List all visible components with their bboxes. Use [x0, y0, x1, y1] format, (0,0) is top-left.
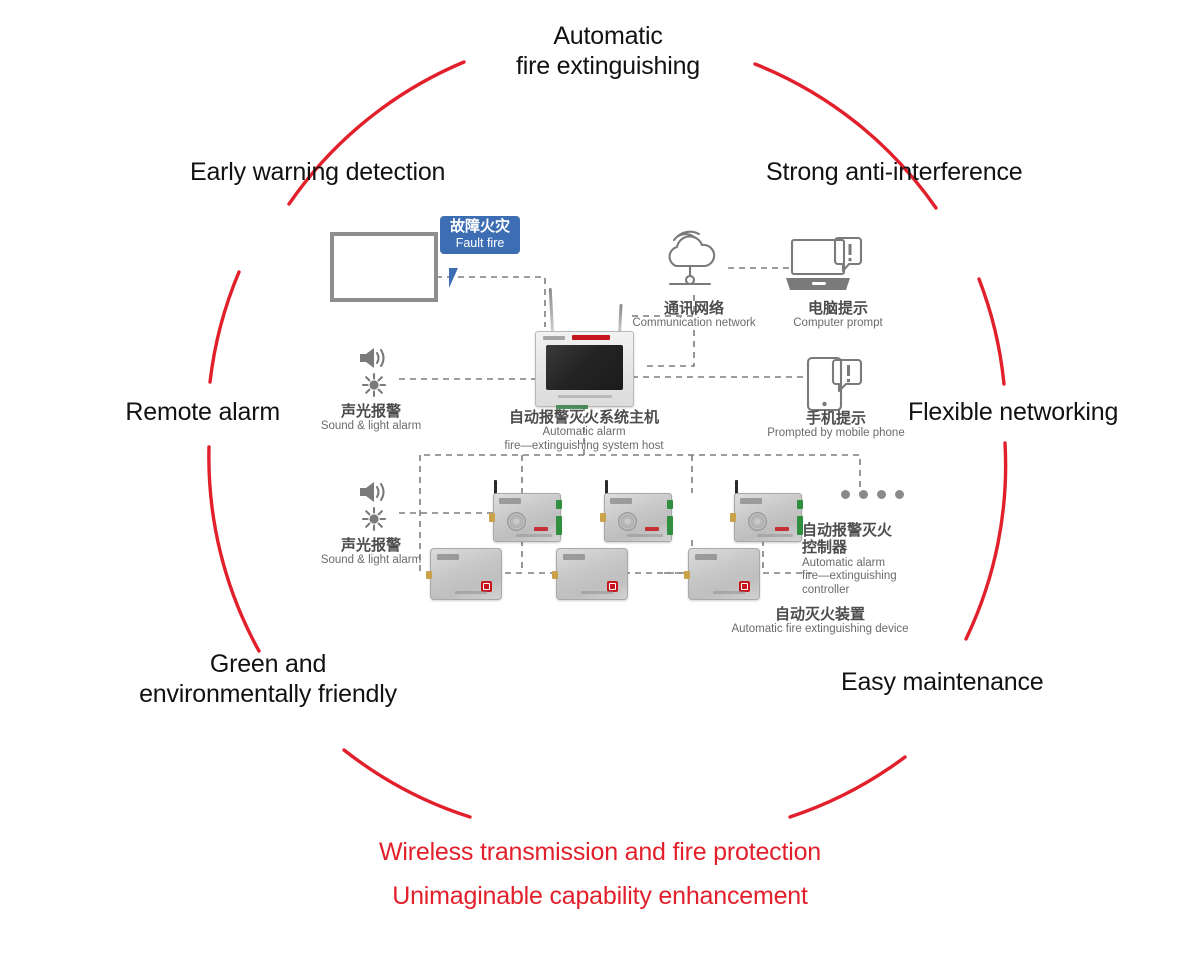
host-red-bar — [572, 335, 610, 340]
controller-bottom-text-3 — [757, 534, 793, 537]
slogan-line-2: Unimaginable capability enhancement — [0, 882, 1200, 911]
caption-en-alarm-lower: Sound & light alarm — [297, 554, 445, 568]
controller-green-port-top-2 — [667, 500, 673, 509]
map-display-frame — [330, 232, 438, 302]
controller-bottom-text-1 — [516, 534, 552, 537]
controller-logo-2 — [610, 498, 632, 504]
controller-red-label-1 — [534, 527, 548, 531]
controller-green-port-bottom-1 — [556, 516, 562, 535]
caption-mobile-prompt: 手机提示 Prompted by mobile phone — [746, 410, 926, 441]
arc-bottom-right — [790, 757, 905, 817]
caption-sound-light-alarm-lower: 声光报警 Sound & light alarm — [297, 537, 445, 568]
slogan-line-1: Wireless transmission and fire protectio… — [0, 838, 1200, 867]
device-connector-3 — [684, 571, 690, 579]
controller-speaker-1 — [507, 512, 526, 531]
caption-cn-controller: 自动报警灭火 控制器 — [802, 522, 952, 557]
controller-green-port-bottom-2 — [667, 516, 673, 535]
callout-tail — [449, 268, 458, 288]
controller-red-label-3 — [775, 527, 789, 531]
flashing-light-icon-lower — [363, 508, 385, 530]
link-cloud-down — [642, 330, 694, 366]
host-bottom-text — [558, 395, 612, 398]
callout-text-cn: 故障火灾 — [450, 219, 510, 236]
controller-connector-1 — [489, 513, 495, 522]
fault-fire-callout: 故障火灾 Fault fire — [440, 216, 520, 254]
arc-left-upper — [210, 272, 239, 382]
arc-left-lower — [209, 447, 259, 651]
caption-en-phone: Prompted by mobile phone — [746, 427, 926, 441]
mobile-alert-icon — [808, 358, 861, 410]
controller-green-port-top-3 — [797, 500, 803, 509]
controller-speaker-3 — [748, 512, 767, 531]
caption-controller: 自动报警灭火 控制器 Automatic alarm fire—extingui… — [802, 522, 952, 597]
device-logo-3 — [695, 554, 717, 560]
callout-text-en: Fault fire — [450, 236, 510, 250]
caption-cn-computer: 电脑提示 — [768, 300, 908, 317]
controller-device-1 — [493, 493, 561, 542]
caption-en-computer: Computer prompt — [768, 317, 908, 331]
controller-device-3 — [734, 493, 802, 542]
host-screen — [546, 345, 623, 390]
caption-cn-extinguisher: 自动灭火装置 — [630, 606, 1010, 623]
caption-en-extinguisher: Automatic fire extinguishing device — [630, 623, 1010, 637]
controller-logo-3 — [740, 498, 762, 504]
ring-label-remote-alarm: Remote alarm — [24, 398, 280, 428]
extinguishing-device-3 — [688, 548, 760, 600]
caption-en-host: Automatic alarm fire—extinguishing syste… — [414, 426, 754, 453]
ring-label-automatic-fire-extinguishing: Automatic fire extinguishing — [458, 22, 758, 81]
overlay-vectors — [0, 0, 1200, 967]
caption-extinguishing-device: 自动灭火装置 Automatic fire extinguishing devi… — [630, 606, 1010, 637]
controller-green-port-top-1 — [556, 500, 562, 509]
device-logo-2 — [563, 554, 585, 560]
caption-cn-phone: 手机提示 — [746, 410, 926, 427]
caption-communication-network: 通讯网络 Communication network — [620, 300, 768, 331]
speaker-icon-upper — [360, 348, 384, 368]
cloud-network-icon — [670, 232, 715, 284]
ring-label-easy-maintenance: Easy maintenance — [841, 668, 1043, 698]
controller-connector-3 — [730, 513, 736, 522]
device-bottom-text-1 — [455, 591, 487, 594]
ellipsis-dots — [841, 490, 904, 499]
arc-right-upper — [979, 279, 1004, 384]
controller-logo-1 — [499, 498, 521, 504]
ring-label-strong-anti-interference: Strong anti-interference — [766, 158, 1022, 188]
speaker-icon-lower — [360, 482, 384, 502]
arc-bottom-left — [344, 750, 470, 817]
device-bottom-text-3 — [713, 591, 745, 594]
ring-label-flexible-networking: Flexible networking — [908, 398, 1118, 428]
host-logo-mark — [543, 336, 565, 340]
ring-label-early-warning-detection: Early warning detection — [190, 158, 445, 188]
controller-speaker-2 — [618, 512, 637, 531]
caption-cn-cloud: 通讯网络 — [620, 300, 768, 317]
device-connector-2 — [552, 571, 558, 579]
caption-en-cloud: Communication network — [620, 317, 768, 331]
flashing-light-icon-upper — [363, 374, 385, 396]
host-device — [535, 331, 634, 407]
ring-label-green-environmentally-friendly: Green and environmentally friendly — [118, 650, 418, 709]
controller-device-2 — [604, 493, 672, 542]
controller-bottom-text-2 — [627, 534, 663, 537]
diagram-canvas: Automatic fire extinguishing Early warni… — [0, 0, 1200, 967]
caption-host: 自动报警灭火系统主机 Automatic alarm fire—extingui… — [414, 409, 754, 453]
laptop-alert-icon — [786, 238, 861, 290]
caption-computer-prompt: 电脑提示 Computer prompt — [768, 300, 908, 331]
caption-cn-host: 自动报警灭火系统主机 — [414, 409, 754, 426]
device-bottom-text-2 — [581, 591, 613, 594]
extinguishing-device-2 — [556, 548, 628, 600]
controller-red-label-2 — [645, 527, 659, 531]
device-connector-1 — [426, 571, 432, 579]
link-ctrl2-to-dev — [658, 540, 692, 573]
controller-connector-2 — [600, 513, 606, 522]
caption-cn-alarm-lower: 声光报警 — [297, 537, 445, 554]
caption-en-controller: Automatic alarm fire—extinguishing contr… — [802, 557, 952, 598]
